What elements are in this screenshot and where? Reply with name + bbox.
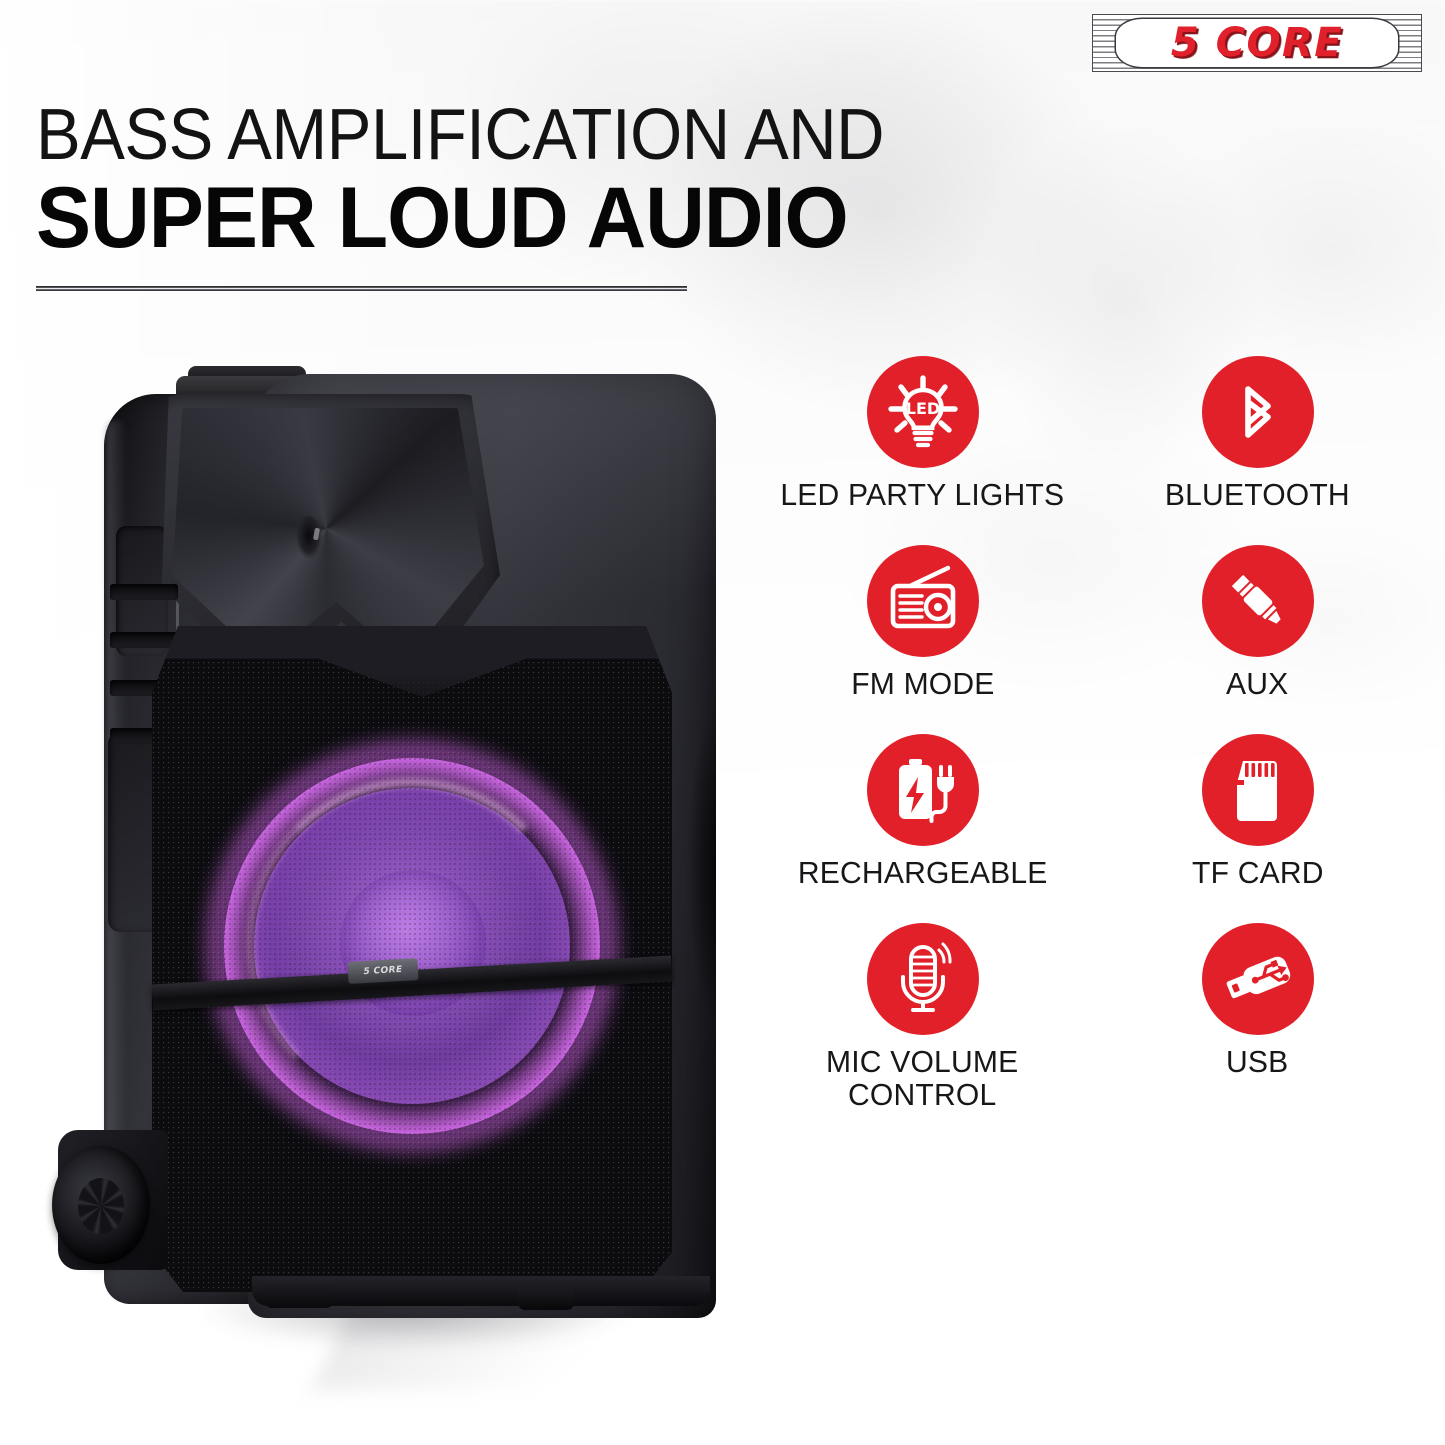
side-vent-2 (110, 632, 178, 648)
feature-label: AUX (1226, 668, 1288, 701)
microphone-icon (867, 923, 979, 1035)
feature-label: TF CARD (1192, 857, 1324, 890)
headline-block: BASS AMPLIFICATION AND SUPER LOUD AUDIO (36, 100, 1096, 291)
feature-label: USB (1226, 1046, 1288, 1079)
transport-wheel (52, 1146, 150, 1264)
headline-line-1: BASS AMPLIFICATION AND (36, 100, 1022, 171)
grille-dot-overlay (198, 732, 628, 1162)
feature-rechargeable[interactable]: RECHARGEABLE (760, 730, 1085, 919)
brand-logo: 5 CORE (1092, 14, 1422, 72)
cabinet-foot-left (264, 1282, 334, 1308)
product-image: 5 CORE (48, 360, 748, 1370)
led-bulb-icon: LED (867, 356, 979, 468)
feature-led-party-lights[interactable]: LED LED PARTY LIGHTS (760, 352, 1085, 541)
feature-label: FM MODE (851, 668, 994, 701)
battery-charge-icon (867, 734, 979, 846)
side-vent-1 (110, 584, 178, 600)
logo-wordmark: 5 CORE (1092, 14, 1422, 72)
feature-tf-card[interactable]: TF CARD (1095, 730, 1420, 919)
feature-aux[interactable]: AUX (1095, 541, 1420, 730)
feature-fm-mode[interactable]: FM MODE (760, 541, 1085, 730)
feature-label: MIC VOLUME CONTROL (826, 1046, 1018, 1112)
feature-label: BLUETOOTH (1165, 479, 1350, 512)
feature-label: LED PARTY LIGHTS (781, 479, 1065, 512)
grille-top-shadow (152, 626, 672, 722)
horn-tweeter-apex (296, 516, 322, 564)
feature-usb[interactable]: USB (1095, 919, 1420, 1112)
headline-underline-rule (36, 286, 687, 291)
headline-line-2: SUPER LOUD AUDIO (36, 175, 1054, 263)
feature-bluetooth[interactable]: BLUETOOTH (1095, 352, 1420, 541)
led-icon-text: LED (905, 399, 939, 418)
feature-grid: LED LED PARTY LIGHTS BLUETOOTH (760, 352, 1420, 1112)
aux-jack-icon (1202, 545, 1314, 657)
tf-card-icon (1202, 734, 1314, 846)
product-badge: 5 CORE (347, 958, 418, 984)
feature-label: RECHARGEABLE (798, 857, 1048, 890)
product-banner: 5 CORE BASS AMPLIFICATION AND SUPER LOUD… (0, 0, 1445, 1445)
bluetooth-icon (1202, 356, 1314, 468)
radio-icon (867, 545, 979, 657)
cabinet-foot-right (518, 1290, 574, 1310)
usb-drive-icon (1202, 923, 1314, 1035)
feature-mic-volume-control[interactable]: MIC VOLUME CONTROL (760, 919, 1085, 1112)
